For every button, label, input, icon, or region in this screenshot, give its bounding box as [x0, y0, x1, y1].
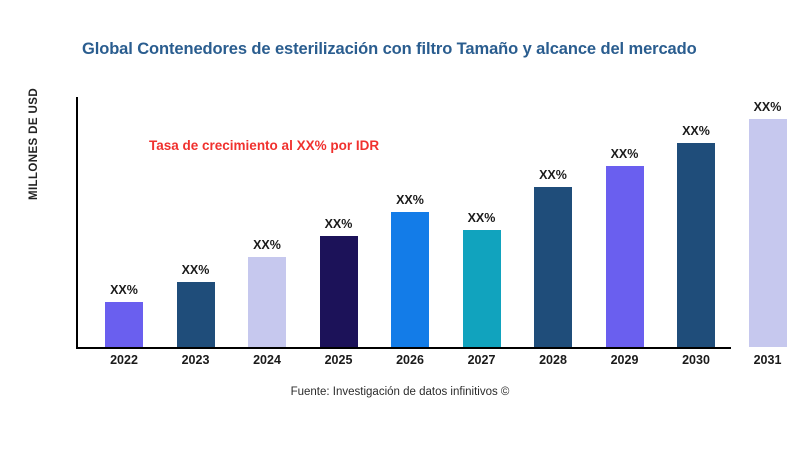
- bar-value-label-2027: XX%: [450, 211, 514, 225]
- bar-value-label-2025: XX%: [307, 217, 371, 231]
- x-tick-2024: 2024: [235, 353, 299, 367]
- x-axis-line: [76, 347, 731, 349]
- bar-value-label-2022: XX%: [92, 283, 156, 297]
- bar-value-label-2030: XX%: [664, 124, 728, 138]
- bar-value-label-2024: XX%: [235, 238, 299, 252]
- x-tick-2030: 2030: [664, 353, 728, 367]
- y-axis-line: [76, 97, 78, 349]
- bar-rect-2030[interactable]: [677, 143, 715, 347]
- bar-2030[interactable]: XX%: [677, 143, 715, 347]
- bar-value-label-2026: XX%: [378, 193, 442, 207]
- bar-rect-2027[interactable]: [463, 230, 501, 347]
- bar-rect-2024[interactable]: [248, 257, 286, 347]
- bar-2024[interactable]: XX%: [248, 257, 286, 347]
- bar-value-label-2031: XX%: [736, 100, 800, 114]
- x-tick-2022: 2022: [92, 353, 156, 367]
- bar-2028[interactable]: XX%: [534, 187, 572, 347]
- bar-value-label-2028: XX%: [521, 168, 585, 182]
- growth-rate-annotation: Tasa de crecimiento al XX% por IDR: [149, 138, 379, 153]
- bar-2026[interactable]: XX%: [391, 212, 429, 347]
- bar-rect-2022[interactable]: [105, 302, 143, 347]
- bar-2023[interactable]: XX%: [177, 282, 215, 347]
- bar-value-label-2029: XX%: [593, 147, 657, 161]
- bar-2022[interactable]: XX%: [105, 302, 143, 347]
- bar-2029[interactable]: XX%: [606, 166, 644, 347]
- x-tick-2023: 2023: [164, 353, 228, 367]
- bar-2027[interactable]: XX%: [463, 230, 501, 347]
- bar-rect-2023[interactable]: [177, 282, 215, 347]
- x-tick-2026: 2026: [378, 353, 442, 367]
- bar-2025[interactable]: XX%: [320, 236, 358, 347]
- bar-rect-2026[interactable]: [391, 212, 429, 347]
- bar-2031[interactable]: XX%: [749, 119, 787, 347]
- plot-area: Tasa de crecimiento al XX% por IDR XX%XX…: [76, 97, 800, 349]
- source-note: Fuente: Investigación de datos infinitiv…: [0, 386, 800, 398]
- bar-value-label-2023: XX%: [164, 263, 228, 277]
- bar-rect-2025[interactable]: [320, 236, 358, 347]
- bar-rect-2029[interactable]: [606, 166, 644, 347]
- bar-chart: Global Contenedores de esterilización co…: [0, 0, 800, 450]
- x-tick-2025: 2025: [307, 353, 371, 367]
- bar-rect-2028[interactable]: [534, 187, 572, 347]
- x-tick-2027: 2027: [450, 353, 514, 367]
- page-title: Global Contenedores de esterilización co…: [82, 38, 800, 60]
- y-axis-label: MILLONES DE USD: [28, 64, 40, 224]
- x-tick-2029: 2029: [593, 353, 657, 367]
- bar-rect-2031[interactable]: [749, 119, 787, 347]
- x-tick-2028: 2028: [521, 353, 585, 367]
- x-tick-2031: 2031: [736, 353, 800, 367]
